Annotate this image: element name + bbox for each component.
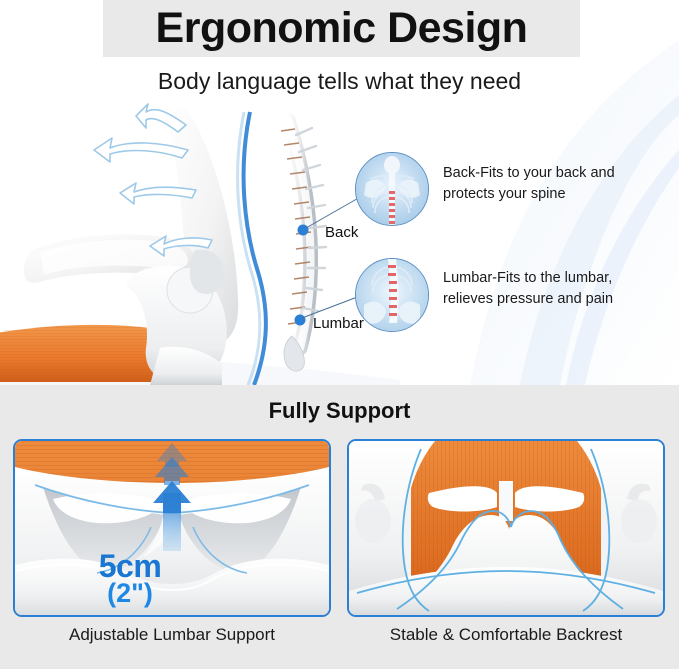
callout-back-line2: protects your spine xyxy=(443,186,566,202)
product-infographic: Ergonomic Design Body language tells wha… xyxy=(0,0,679,669)
section-title: Fully Support xyxy=(0,398,679,424)
callout-back-line1: Back-Fits to your back and xyxy=(443,165,615,181)
spine-label-lumbar: Lumbar xyxy=(313,315,364,332)
page-subtitle: Body language tells what they need xyxy=(0,68,679,95)
title-banner: Ergonomic Design xyxy=(103,0,580,57)
caption-adjustable-lumbar-support: Adjustable Lumbar Support xyxy=(13,625,331,645)
callout-lumbar-line2: relieves pressure and pain xyxy=(443,291,613,307)
backrest-closeup-image xyxy=(349,441,663,615)
spine-marker-lumbar xyxy=(295,315,306,326)
spine-marker-back xyxy=(298,225,309,236)
lumbar-spine-xray-icon xyxy=(355,258,429,332)
ergonomic-design-section: Ergonomic Design Body language tells wha… xyxy=(0,0,679,385)
caption-stable-comfortable-backrest: Stable & Comfortable Backrest xyxy=(347,625,665,645)
measurement-unit: (2") xyxy=(0,578,260,609)
upper-spine-xray-icon xyxy=(355,152,429,226)
callout-lumbar-line1: Lumbar-Fits to the lumbar, xyxy=(443,270,612,286)
page-title: Ergonomic Design xyxy=(156,7,528,50)
fully-support-section: Fully Support xyxy=(0,385,679,669)
panel-stable-comfortable-backrest xyxy=(347,439,665,617)
spine-label-back: Back xyxy=(325,224,358,241)
callout-back-text: Back-Fits to your back and protects your… xyxy=(443,163,615,205)
spine-illustration xyxy=(281,120,326,371)
callout-lumbar-text: Lumbar-Fits to the lumbar, relieves pres… xyxy=(443,268,613,310)
